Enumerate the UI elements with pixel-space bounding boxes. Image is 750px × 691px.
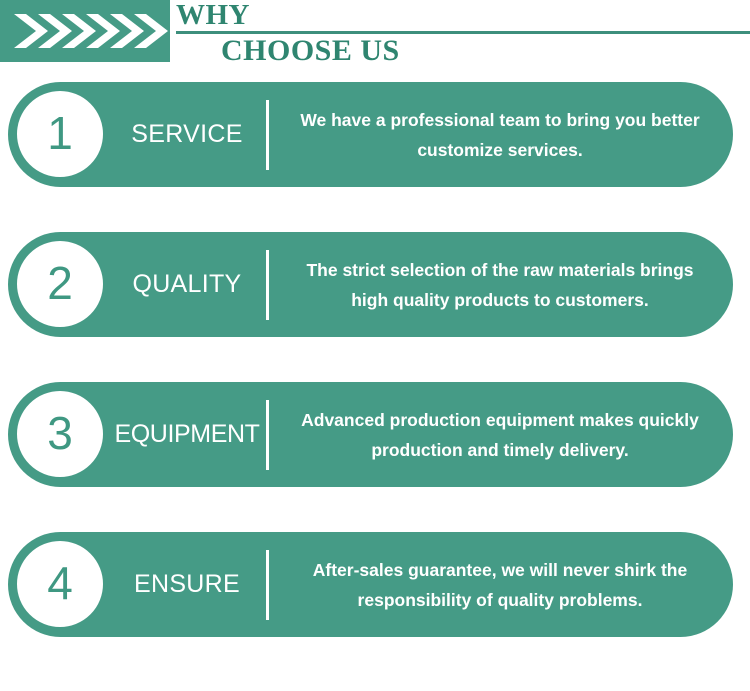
- feature-label-4: ENSURE: [108, 532, 266, 637]
- description-line-2: responsibility of quality problems.: [358, 585, 643, 615]
- description-line-2: high quality products to customers.: [351, 285, 649, 315]
- vertical-divider: [266, 100, 269, 170]
- chevron-banner: [0, 0, 170, 62]
- number-badge-label: 1: [47, 110, 73, 156]
- vertical-divider: [266, 250, 269, 320]
- chevrons-right-icon: [0, 0, 170, 62]
- list-item: 4 ENSURE After-sales guarantee, we will …: [0, 532, 733, 637]
- vertical-divider: [266, 550, 269, 620]
- description-line-1: The strict selection of the raw material…: [306, 255, 693, 285]
- why-choose-us-infographic: WHY CHOOSE US 1 SERVICE We have a profes…: [0, 0, 750, 691]
- number-badge-label: 3: [47, 410, 73, 456]
- number-badge-label: 4: [47, 560, 73, 606]
- list-item: 2 QUALITY The strict selection of the ra…: [0, 232, 733, 337]
- description-line-1: We have a professional team to bring you…: [300, 105, 699, 135]
- feature-label-3: EQUIPMENT: [108, 382, 266, 487]
- feature-description-2: The strict selection of the raw material…: [280, 232, 720, 337]
- feature-description-4: After-sales guarantee, we will never shi…: [280, 532, 720, 637]
- feature-description-1: We have a professional team to bring you…: [280, 82, 720, 187]
- vertical-divider: [266, 400, 269, 470]
- feature-pill-2: 2 QUALITY The strict selection of the ra…: [8, 232, 733, 337]
- number-badge-label: 2: [47, 260, 73, 306]
- feature-label-1: SERVICE: [108, 82, 266, 187]
- list-item: 1 SERVICE We have a professional team to…: [0, 82, 733, 187]
- header-title-block: WHY CHOOSE US: [176, 0, 750, 75]
- list-item: 3 EQUIPMENT Advanced production equipmen…: [0, 382, 733, 487]
- number-badge-3: 3: [12, 386, 108, 482]
- feature-list: 1 SERVICE We have a professional team to…: [0, 82, 750, 682]
- number-badge-1: 1: [12, 86, 108, 182]
- header: WHY CHOOSE US: [0, 0, 750, 75]
- number-badge-2: 2: [12, 236, 108, 332]
- feature-pill-1: 1 SERVICE We have a professional team to…: [8, 82, 733, 187]
- description-line-2: customize services.: [417, 135, 582, 165]
- feature-label-2: QUALITY: [108, 232, 266, 337]
- header-title-line2: CHOOSE US: [221, 32, 400, 70]
- description-line-1: After-sales guarantee, we will never shi…: [313, 555, 687, 585]
- header-title-line1: WHY: [176, 0, 250, 32]
- feature-pill-3: 3 EQUIPMENT Advanced production equipmen…: [8, 382, 733, 487]
- feature-pill-4: 4 ENSURE After-sales guarantee, we will …: [8, 532, 733, 637]
- feature-description-3: Advanced production equipment makes quic…: [280, 382, 720, 487]
- number-badge-4: 4: [12, 536, 108, 632]
- description-line-2: production and timely delivery.: [371, 435, 628, 465]
- description-line-1: Advanced production equipment makes quic…: [301, 405, 699, 435]
